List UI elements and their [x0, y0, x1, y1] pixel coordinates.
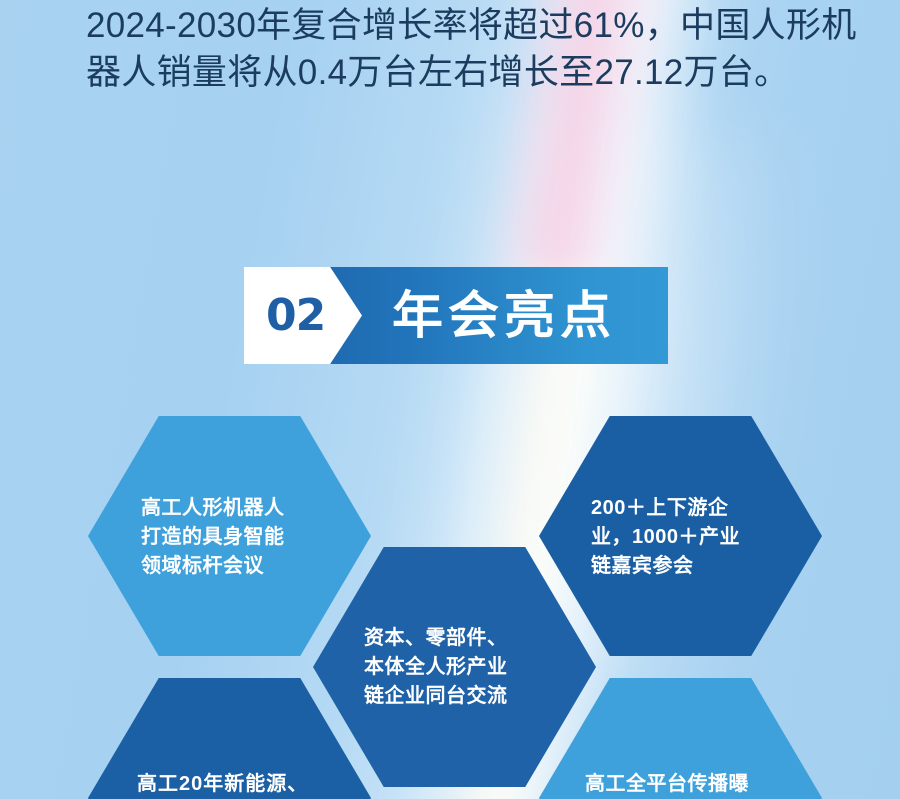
- section-banner: 02 年会亮点: [244, 267, 668, 364]
- highlight-text: 高工全平台传播曝 光，超30万用户: [585, 770, 749, 799]
- highlight-text: 资本、零部件、 本体全人形产业 链企业同台交流: [364, 624, 508, 711]
- highlight-text: 200＋上下游企 业，1000＋产业 链嘉宾参会: [591, 494, 740, 581]
- infographic-page: 2024-2030年复合增长率将超过61%，中国人形机器人销量将从0.4万台左右…: [0, 0, 900, 799]
- highlight-text: 高工20年新能源、 3C、汽车行业积: [137, 770, 308, 799]
- section-number: 02: [266, 290, 325, 341]
- section-title: 年会亮点: [392, 290, 616, 341]
- lead-paragraph: 2024-2030年复合增长率将超过61%，中国人形机器人销量将从0.4万台左右…: [86, 2, 876, 96]
- highlight-text: 高工人形机器人 打造的具身智能 领域标杆会议: [141, 494, 285, 581]
